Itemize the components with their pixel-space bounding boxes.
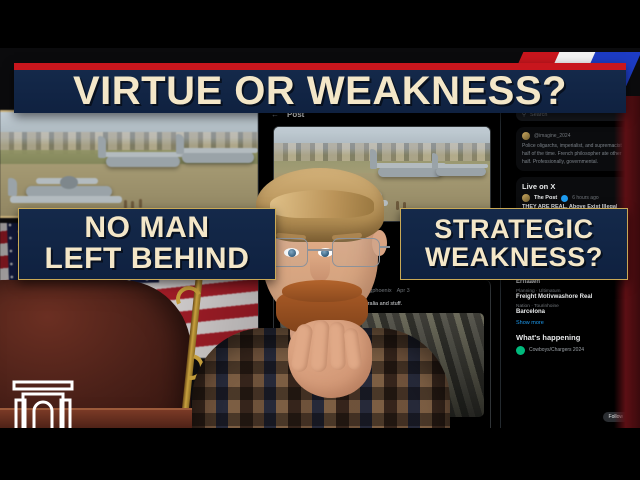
nose <box>310 256 330 282</box>
x-live-meta: 6 hours ago <box>572 195 598 201</box>
live-dot-icon <box>516 346 525 355</box>
x-quoted-handle: @imagine_2024 <box>534 133 571 139</box>
moustache <box>282 280 362 302</box>
aircraft-a10 <box>6 172 126 212</box>
trend-value: Barcelona <box>516 309 630 315</box>
left-caption-line1: NO MAN <box>84 213 209 244</box>
right-caption-line1: STRATEGIC <box>434 216 593 244</box>
right-caption-line2: WEAKNESS? <box>425 244 603 272</box>
letterbox-bottom <box>0 428 640 480</box>
trend-value: Freight Motivwashore Real <box>516 294 630 300</box>
left-caption-banner: NO MAN LEFT BEHIND <box>18 208 276 280</box>
x-live-account: The Post <box>534 195 557 201</box>
happening-item[interactable]: Cowboys/Chargers 2024 <box>516 346 630 355</box>
aircraft-c130-a <box>96 138 188 178</box>
x-quoted-author: @imagine_2024 <box>522 132 624 140</box>
thumbnail-canvas: ← Post <box>0 0 640 480</box>
trend-item[interactable]: Planning · Ultimatum Freight Motivwashor… <box>516 289 630 300</box>
headline-banner: VIRTUE OR WEAKNESS? <box>14 63 626 113</box>
x-quoted-card: @imagine_2024 Police oligarchs, imperial… <box>516 127 630 171</box>
photo-crew <box>139 199 142 208</box>
arch-monument-icon <box>12 378 74 428</box>
x-live-account-row: The Post 6 hours ago <box>522 194 624 202</box>
trend-item[interactable]: Nation · Tourinhoine Barcelona <box>516 304 630 315</box>
avatar <box>522 132 530 140</box>
avatar <box>522 194 530 202</box>
aircraft-c130-b <box>432 153 490 183</box>
right-caption-banner: STRATEGIC WEAKNESS? <box>400 208 628 280</box>
left-caption-line2: LEFT BEHIND <box>45 244 250 275</box>
x-quoted-body: Police oligarchs, imperialist, and supre… <box>522 142 624 166</box>
whats-happening-header: What's happening <box>516 333 630 342</box>
letterbox-top <box>0 0 640 48</box>
hand-on-chin <box>288 320 372 398</box>
happening-item-label: Cowboys/Chargers 2024 <box>529 347 584 353</box>
verified-badge-icon <box>561 195 568 202</box>
presenter <box>214 152 426 428</box>
headline-text: VIRTUE OR WEAKNESS? <box>73 71 567 112</box>
show-more-link[interactable]: Show more <box>516 320 630 326</box>
x-live-header: Live on X <box>522 182 624 191</box>
